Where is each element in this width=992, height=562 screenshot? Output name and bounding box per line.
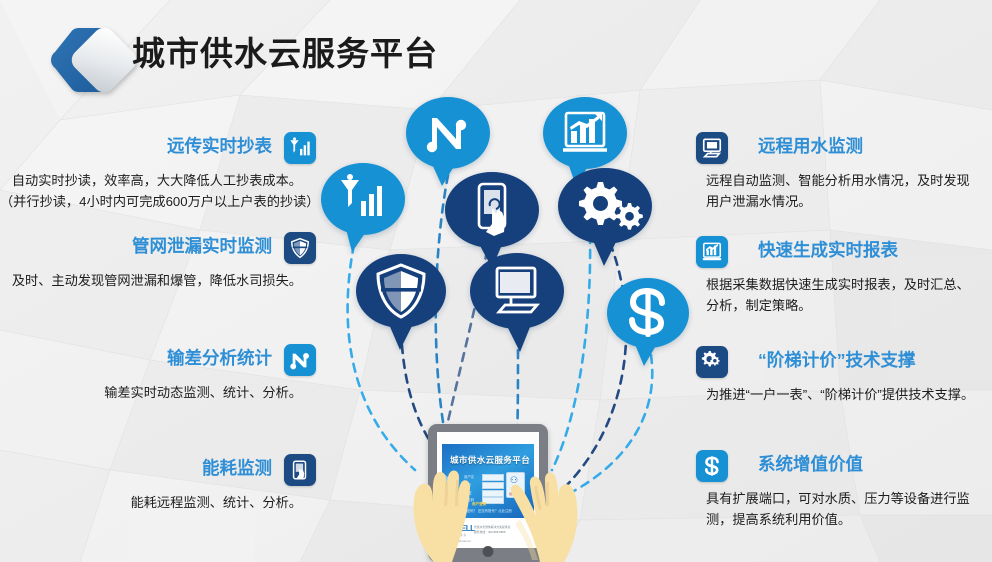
dollar-icon[interactable] (696, 450, 728, 482)
trend-line-icon[interactable] (284, 344, 316, 376)
feature-body: 远程自动监测、智能分析用水情况，及时发现用户泄漏水情况。 (674, 170, 976, 212)
feature-system-value[interactable]: 系统增值价值 具有扩展端口，可对水质、压力等设备进行监测，提高系统利用价值。 (674, 452, 992, 530)
shield-icon[interactable] (284, 232, 316, 264)
feature-title: 能耗监测 (202, 456, 272, 480)
feature-body: 及时、主动发现管网泄漏和爆管，降低水司损失。 (0, 270, 318, 291)
hands-illustration (388, 432, 598, 562)
feature-body: 自动实时抄读，效率高，大大降低人工抄表成本。 （并行抄读，4小时内可完成600万… (0, 170, 318, 212)
feature-body: 输差实时动态监测、统计、分析。 (0, 382, 318, 403)
right-feature-column: 远程用水监测 远程自动监测、智能分析用水情况，及时发现用户泄漏水情况。 快速生成… (674, 0, 992, 562)
bar-chart-icon[interactable] (696, 236, 728, 268)
feature-title: 快速生成实时报表 (758, 238, 898, 262)
feature-title: “阶梯计价”技术支撑 (758, 348, 916, 372)
feature-title: 系统增值价值 (758, 452, 863, 476)
signal-meter-icon[interactable] (284, 132, 316, 164)
bubble-gears[interactable] (558, 168, 652, 266)
gears-icon[interactable] (696, 346, 728, 378)
feature-body: 具有扩展端口，可对水质、压力等设备进行监测，提高系统利用价值。 (674, 488, 976, 530)
feature-body: 为推进“一户一表”、“阶梯计价”提供技术支撑。 (674, 384, 976, 405)
left-feature-column: 远传实时抄表 自动实时抄读，效率高，大大降低人工抄表成本。 （并行抄读，4小时内… (0, 0, 318, 562)
feature-realtime-reports[interactable]: 快速生成实时报表 根据采集数据快速生成实时报表，及时汇总、分析，制定策略。 (674, 238, 992, 316)
infographic-root: 城市供水云服务平台 (0, 0, 992, 562)
bubble-trend-line[interactable] (406, 97, 490, 186)
feature-title: 远传实时抄表 (167, 134, 272, 158)
bubble-monitor[interactable] (470, 253, 564, 352)
feature-remote-water-monitoring[interactable]: 远程用水监测 远程自动监测、智能分析用水情况，及时发现用户泄漏水情况。 (674, 134, 992, 212)
bubble-shield[interactable] (356, 254, 446, 350)
feature-tiered-pricing[interactable]: “阶梯计价”技术支撑 为推进“一户一表”、“阶梯计价”提供技术支撑。 (674, 348, 992, 405)
feature-title: 管网泄漏实时监测 (132, 234, 272, 258)
feature-title: 输差分析统计 (167, 346, 272, 370)
feature-pipe-leak-monitoring[interactable]: 管网泄漏实时监测 及时、主动发现管网泄漏和爆管，降低水司损失。 (0, 234, 318, 291)
feature-title: 远程用水监测 (758, 134, 863, 158)
feature-body: 根据采集数据快速生成实时报表，及时汇总、分析，制定策略。 (674, 274, 976, 316)
bubble-signal-meter[interactable] (321, 163, 405, 252)
feature-loss-analysis[interactable]: 输差分析统计 输差实时动态监测、统计、分析。 (0, 346, 318, 403)
feature-remote-meter-reading[interactable]: 远传实时抄表 自动实时抄读，效率高，大大降低人工抄表成本。 （并行抄读，4小时内… (0, 134, 318, 212)
touch-device-icon[interactable] (284, 454, 316, 486)
monitor-icon[interactable] (696, 132, 728, 164)
feature-energy-monitoring[interactable]: 能耗监测 能耗远程监测、统计、分析。 (0, 456, 318, 513)
feature-body: 能耗远程监测、统计、分析。 (0, 492, 318, 513)
